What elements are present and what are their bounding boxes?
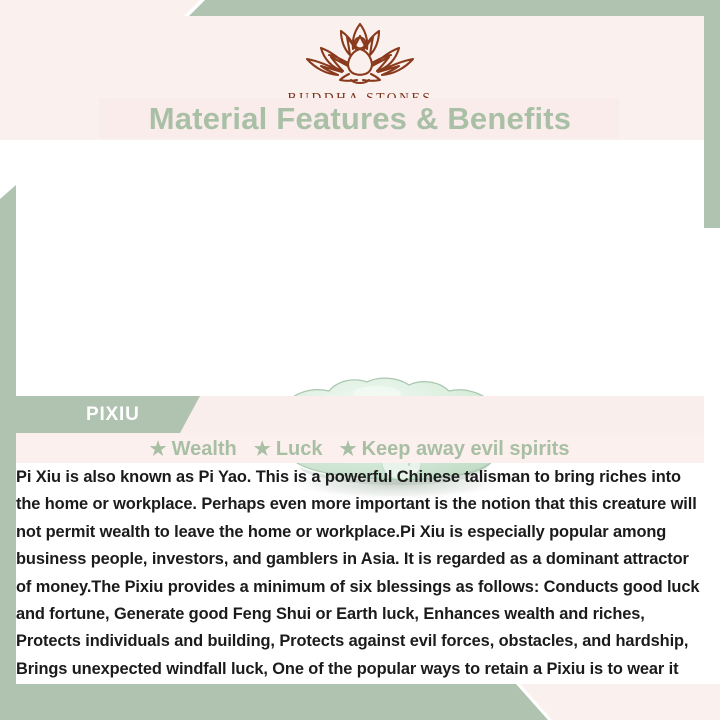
- benefit-item-wealth: Wealth: [172, 438, 237, 460]
- star-icon: ★: [340, 439, 357, 460]
- product-photo-area: [16, 140, 704, 392]
- benefits-row: ★Wealth★Luck★Keep away evil spirits: [0, 435, 720, 464]
- label-blush-band: [180, 396, 704, 433]
- page-title: Material Features & Benefits: [0, 99, 720, 139]
- star-icon: ★: [254, 439, 271, 460]
- product-label-row: PIXIU: [0, 396, 720, 433]
- star-icon: ★: [150, 439, 167, 460]
- product-info-card: BUDDHA STONES Material Features & Benefi…: [0, 0, 720, 720]
- benefit-item-evil-spirits: Keep away evil spirits: [362, 438, 570, 460]
- lotus-meditation-icon: [291, 18, 429, 88]
- product-label: PIXIU: [86, 396, 140, 433]
- brand-logo: BUDDHA STONES: [0, 18, 720, 106]
- description-paragraph: Pi Xiu is also known as Pi Yao. This is …: [16, 464, 700, 711]
- benefit-item-luck: Luck: [276, 438, 323, 460]
